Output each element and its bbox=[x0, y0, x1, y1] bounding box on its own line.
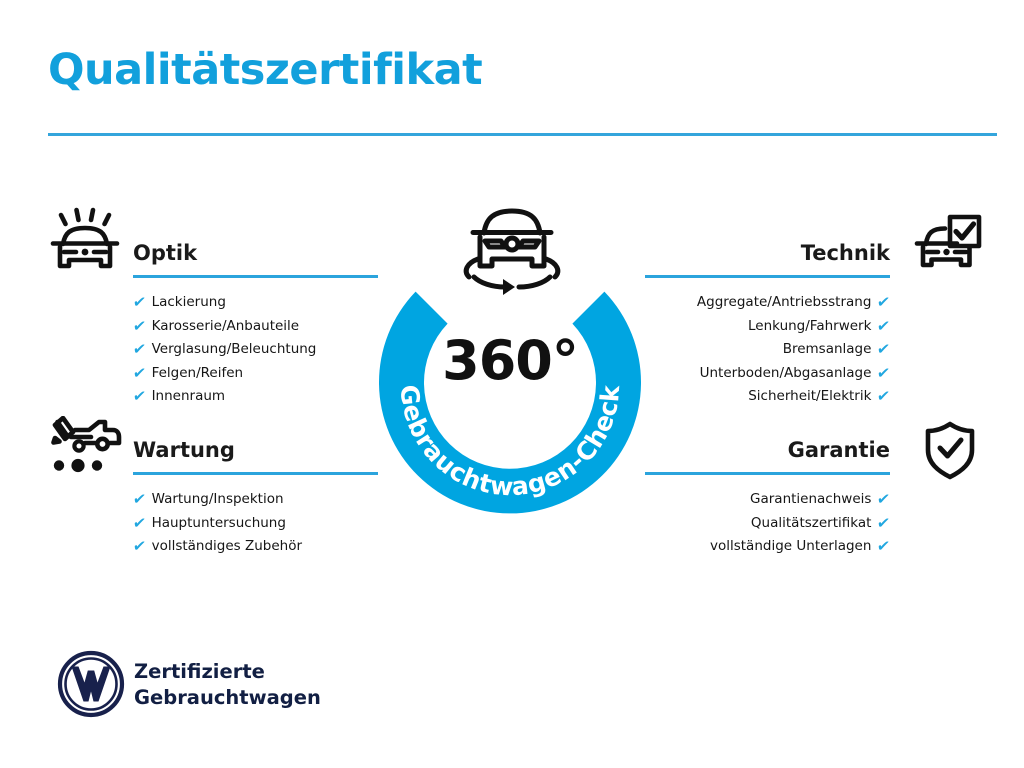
section-technik-head: Technik bbox=[645, 240, 890, 278]
list-item: ✔ Verglasung/Beleuchtung bbox=[133, 338, 378, 362]
list-item-label: Garantienachweis bbox=[750, 488, 871, 512]
car-front-checkbox-icon bbox=[912, 212, 984, 274]
footer-line-2: Gebrauchtwagen bbox=[134, 685, 321, 711]
list-item-label: Wartung/Inspektion bbox=[152, 488, 284, 512]
footer-wordmark: Zertifizierte Gebrauchtwagen bbox=[134, 659, 321, 711]
car-front-rotate-icon bbox=[447, 197, 577, 302]
section-optik-list: ✔ Lackierung ✔ Karosserie/Anbauteile ✔ V… bbox=[133, 291, 378, 409]
section-wartung-divider bbox=[133, 472, 378, 475]
list-item: Garantienachweis ✔ bbox=[645, 488, 890, 512]
check-icon: ✔ bbox=[132, 295, 147, 310]
check-icon: ✔ bbox=[876, 342, 891, 357]
list-item: Bremsanlage ✔ bbox=[645, 338, 890, 362]
section-optik: Optik ✔ Lackierung ✔ Karosserie/Anbautei… bbox=[133, 240, 378, 425]
check-icon: ✔ bbox=[132, 516, 147, 531]
shield-check-icon bbox=[920, 419, 980, 481]
list-item-label: Felgen/Reifen bbox=[152, 362, 244, 386]
section-optik-head: Optik bbox=[133, 240, 378, 278]
list-item-label: Innenraum bbox=[152, 385, 226, 409]
list-item-label: Aggregate/Antriebsstrang bbox=[697, 291, 872, 315]
list-item: ✔ Hauptuntersuchung bbox=[133, 512, 378, 536]
list-item: Unterboden/Abgasanlage ✔ bbox=[645, 362, 890, 386]
section-wartung: Wartung ✔ Wartung/Inspektion ✔ Hauptunte… bbox=[133, 437, 378, 575]
footer-line-1: Zertifizierte bbox=[134, 659, 321, 685]
section-wartung-head: Wartung bbox=[133, 437, 378, 475]
check-icon: ✔ bbox=[876, 389, 891, 404]
section-technik-list: Aggregate/Antriebsstrang ✔ Lenkung/Fahrw… bbox=[645, 291, 890, 409]
list-item-label: Karosserie/Anbauteile bbox=[152, 315, 300, 339]
list-item: ✔ Lackierung bbox=[133, 291, 378, 315]
list-item-label: vollständiges Zubehör bbox=[152, 535, 302, 559]
list-item-label: vollständige Unterlagen bbox=[710, 535, 871, 559]
list-item-label: Sicherheit/Elektrik bbox=[748, 385, 871, 409]
list-item-label: Hauptuntersuchung bbox=[152, 512, 286, 536]
check-icon: ✔ bbox=[876, 366, 891, 381]
section-technik-title: Technik bbox=[645, 240, 890, 266]
pencil-car-service-icon bbox=[47, 416, 125, 478]
list-item: Lenkung/Fahrwerk ✔ bbox=[645, 315, 890, 339]
volkswagen-logo bbox=[57, 650, 125, 718]
list-item: ✔ Felgen/Reifen bbox=[133, 362, 378, 386]
list-item: ✔ vollständiges Zubehör bbox=[133, 535, 378, 559]
list-item: ✔ Wartung/Inspektion bbox=[133, 488, 378, 512]
check-icon: ✔ bbox=[132, 539, 147, 554]
section-technik-divider bbox=[645, 275, 890, 278]
check-icon: ✔ bbox=[132, 366, 147, 381]
section-garantie-list: Garantienachweis ✔ Qualitätszertifikat ✔… bbox=[645, 488, 890, 559]
list-item-label: Verglasung/Beleuchtung bbox=[152, 338, 317, 362]
check-icon: ✔ bbox=[876, 539, 891, 554]
check-icon: ✔ bbox=[876, 295, 891, 310]
check-icon: ✔ bbox=[132, 389, 147, 404]
section-wartung-list: ✔ Wartung/Inspektion ✔ Hauptuntersuchung… bbox=[133, 488, 378, 559]
list-item: ✔ Karosserie/Anbauteile bbox=[133, 315, 378, 339]
list-item: Aggregate/Antriebsstrang ✔ bbox=[645, 291, 890, 315]
badge-center-label: 360° bbox=[379, 330, 641, 392]
check-icon: ✔ bbox=[876, 516, 891, 531]
list-item-label: Qualitätszertifikat bbox=[751, 512, 872, 536]
list-item: Sicherheit/Elektrik ✔ bbox=[645, 385, 890, 409]
section-garantie-head: Garantie bbox=[645, 437, 890, 475]
car-front-shine-icon bbox=[47, 207, 125, 277]
list-item-label: Bremsanlage bbox=[783, 338, 872, 362]
check-icon: ✔ bbox=[132, 319, 147, 334]
list-item: Qualitätszertifikat ✔ bbox=[645, 512, 890, 536]
list-item-label: Unterboden/Abgasanlage bbox=[700, 362, 872, 386]
list-item: vollständige Unterlagen ✔ bbox=[645, 535, 890, 559]
check-icon: ✔ bbox=[132, 492, 147, 507]
list-item-label: Lenkung/Fahrwerk bbox=[748, 315, 871, 339]
section-technik: Technik Aggregate/Antriebsstrang ✔ Lenku… bbox=[645, 240, 890, 425]
list-item: ✔ Innenraum bbox=[133, 385, 378, 409]
section-garantie-divider bbox=[645, 472, 890, 475]
list-item-label: Lackierung bbox=[152, 291, 226, 315]
section-optik-title: Optik bbox=[133, 240, 378, 266]
section-garantie: Garantie Garantienachweis ✔ Qualitätszer… bbox=[645, 437, 890, 575]
check-icon: ✔ bbox=[876, 492, 891, 507]
section-wartung-title: Wartung bbox=[133, 437, 378, 463]
check-icon: ✔ bbox=[876, 319, 891, 334]
check-icon: ✔ bbox=[132, 342, 147, 357]
section-optik-divider bbox=[133, 275, 378, 278]
section-garantie-title: Garantie bbox=[645, 437, 890, 463]
page-title: Qualitätszertifikat bbox=[48, 47, 482, 94]
title-divider bbox=[48, 133, 997, 136]
